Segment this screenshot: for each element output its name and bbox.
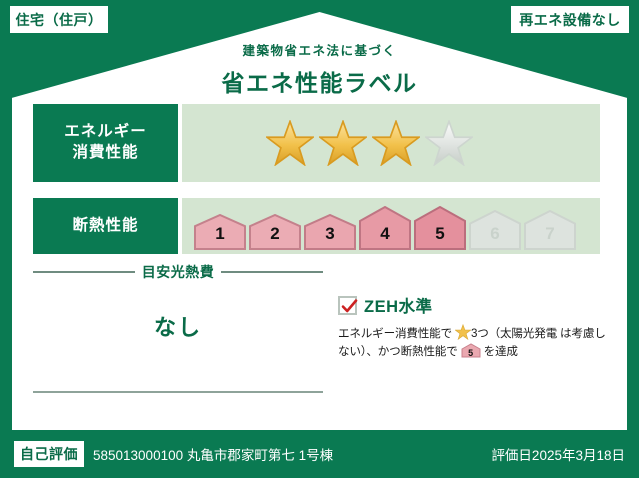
zeh-title-label: ZEH水準 bbox=[364, 293, 433, 317]
insulation-grade-number: 5 bbox=[414, 224, 466, 244]
label-title: 省エネ性能ラベル bbox=[0, 64, 639, 98]
star-icon-empty bbox=[425, 120, 473, 166]
energy-performance-label: 住宅（住戸） 再エネ設備なし 建築物省エネ法に基づく 省エネ性能ラベル エネルギ… bbox=[0, 0, 639, 478]
zeh-standard-block: ZEH水準 エネルギー消費性能で 3つ（太陽光発電 は考慮しない）、かつ断熱性能… bbox=[338, 293, 606, 361]
building-type-tag-label: 住宅（住戸） bbox=[16, 10, 103, 30]
insulation-grade-number: 7 bbox=[524, 224, 576, 244]
utility-cost-heading: 目安光熱費 bbox=[33, 262, 323, 282]
star-icon-filled bbox=[372, 120, 420, 166]
insulation-grade-3: 3 bbox=[304, 214, 356, 250]
utility-cost-value: なし bbox=[33, 310, 323, 342]
star-icon-filled bbox=[266, 120, 314, 166]
zeh-description: エネルギー消費性能で 3つ（太陽光発電 は考慮しない）、かつ断熱性能で 5 を達… bbox=[338, 324, 606, 361]
star-icon-glyph bbox=[455, 324, 471, 340]
zeh-desc-star-count: 3つ（太陽光発電 bbox=[471, 327, 557, 340]
insulation-grade-number: 4 bbox=[359, 224, 411, 244]
zeh-desc-part1: エネルギー消費性能で bbox=[338, 327, 452, 340]
insulation-grade-icon-number: 5 bbox=[461, 349, 481, 358]
insulation-grade-5: 5 bbox=[414, 206, 466, 250]
building-reference-text: 585013000100 丸亀市郡家町第七 1号棟 bbox=[93, 444, 333, 464]
energy-performance-key-line2: 消費性能 bbox=[72, 143, 138, 164]
label-subtitle: 建築物省エネ法に基づく bbox=[0, 40, 639, 59]
check-icon bbox=[341, 298, 358, 315]
zeh-desc-part3: を達成 bbox=[484, 345, 518, 358]
star-rating bbox=[266, 120, 473, 166]
evaluation-type-badge: 自己評価 bbox=[14, 441, 84, 467]
utility-cost-rule-right bbox=[221, 271, 323, 273]
insulation-performance-value: 1234567 bbox=[182, 198, 600, 254]
renewable-equipment-tag: 再エネ設備なし bbox=[511, 6, 629, 33]
energy-performance-value bbox=[182, 104, 600, 182]
zeh-title-row: ZEH水準 bbox=[338, 293, 606, 317]
renewable-equipment-tag-label: 再エネ設備なし bbox=[519, 10, 621, 30]
insulation-grade-icon: 5 bbox=[461, 343, 481, 358]
utility-cost-bottom-divider bbox=[33, 391, 323, 393]
zeh-checkbox bbox=[338, 296, 357, 315]
insulation-performance-key: 断熱性能 bbox=[33, 198, 178, 254]
insulation-grade-4: 4 bbox=[359, 206, 411, 250]
evaluation-date-text: 評価日2025年3月18日 bbox=[491, 444, 625, 464]
star-icon-filled bbox=[319, 120, 367, 166]
insulation-grade-2: 2 bbox=[249, 214, 301, 250]
label-footer: 自己評価 585013000100 丸亀市郡家町第七 1号棟 評価日2025年3… bbox=[0, 430, 639, 478]
insulation-performance-row: 断熱性能 1234567 bbox=[33, 198, 600, 254]
building-type-tag: 住宅（住戸） bbox=[10, 6, 108, 33]
insulation-grade-scale: 1234567 bbox=[194, 198, 576, 254]
energy-performance-key: エネルギー 消費性能 bbox=[33, 104, 178, 182]
star-icon bbox=[455, 324, 471, 340]
insulation-grade-6: 6 bbox=[469, 210, 521, 250]
insulation-grade-number: 2 bbox=[249, 224, 301, 244]
insulation-grade-number: 6 bbox=[469, 224, 521, 244]
utility-cost-rule-left bbox=[33, 271, 135, 273]
insulation-performance-key-label: 断熱性能 bbox=[72, 216, 138, 237]
insulation-grade-number: 1 bbox=[194, 224, 246, 244]
energy-performance-row: エネルギー 消費性能 bbox=[33, 104, 600, 182]
utility-cost-heading-label: 目安光熱費 bbox=[142, 262, 215, 282]
label-title-block: 建築物省エネ法に基づく 省エネ性能ラベル bbox=[0, 40, 639, 98]
insulation-grade-number: 3 bbox=[304, 224, 356, 244]
insulation-grade-1: 1 bbox=[194, 214, 246, 250]
insulation-grade-7: 7 bbox=[524, 210, 576, 250]
energy-performance-key-line1: エネルギー bbox=[64, 122, 147, 143]
